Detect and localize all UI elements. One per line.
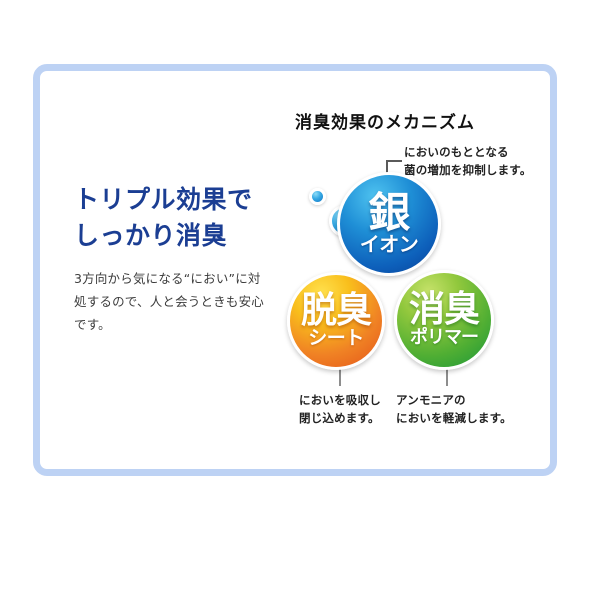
- connector-stem-deodorant-sheet: [339, 368, 341, 386]
- left-text-column: トリプル効果で しっかり消臭 3方向から気になる“におい”に対 処するので、人と…: [74, 182, 289, 336]
- bubble-deodorant-polymer-main: 消臭: [409, 293, 479, 326]
- mechanism-title: 消臭効果のメカニズム: [295, 108, 475, 133]
- bubble-deodorant-sheet-sub: シート: [308, 329, 364, 348]
- lead-paragraph: 3方向から気になる“におい”に対 処するので、人と会うときも安心 です。: [74, 267, 289, 336]
- annotation-deodorant-polymer: アンモニアの においを軽減します。: [396, 392, 512, 428]
- ion-droplet-small-icon: [309, 188, 326, 205]
- connector-stem-deodorant-polymer: [446, 368, 448, 386]
- bubble-deodorant-polymer-sub: ポリマー: [410, 329, 478, 347]
- bubble-silver-ion: 銀 イオン: [337, 172, 441, 276]
- bubble-silver-ion-main: 銀: [368, 194, 409, 233]
- infographic-canvas: トリプル効果で しっかり消臭 3方向から気になる“におい”に対 処するので、人と…: [0, 0, 600, 600]
- bubble-deodorant-sheet: 脱臭 シート: [287, 272, 385, 370]
- bubble-deodorant-polymer: 消臭 ポリマー: [394, 270, 494, 370]
- headline: トリプル効果で しっかり消臭: [74, 182, 289, 253]
- bubble-deodorant-sheet-main: 脱臭: [301, 294, 371, 327]
- annotation-silver-ion: においのもととなる 菌の増加を抑制します。: [404, 144, 532, 180]
- bubble-silver-ion-sub: イオン: [360, 234, 419, 254]
- annotation-deodorant-sheet: においを吸収し 閉じ込めます。: [299, 392, 381, 428]
